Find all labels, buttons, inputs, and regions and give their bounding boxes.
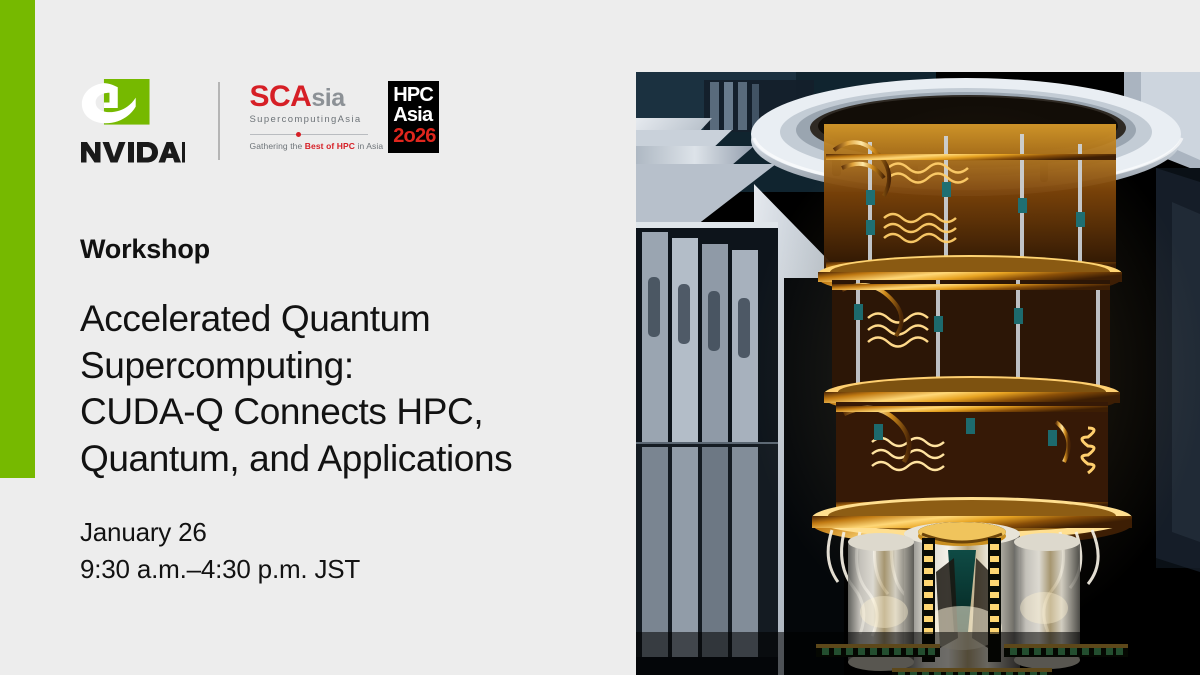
scasia-red-dot-icon xyxy=(296,132,301,137)
quantum-computer-illustration xyxy=(636,72,1200,675)
left-content-panel: SCAsia SupercomputingAsia Gathering the … xyxy=(0,0,636,675)
scasia-tagline-pre: Gathering the xyxy=(250,141,305,151)
scasia-wordmark-sca: SCA xyxy=(250,83,312,112)
logo-lockup: SCAsia SupercomputingAsia Gathering the … xyxy=(80,78,439,164)
hpc-asia-2026-badge: HPC Asia 2o26 xyxy=(388,81,439,153)
nvidia-eye-icon xyxy=(80,79,150,137)
hpc-badge-line2: Asia xyxy=(393,106,435,126)
nvidia-logo xyxy=(80,79,190,163)
scasia-text-block: SCAsia SupercomputingAsia Gathering the … xyxy=(250,81,384,151)
hpc-badge-line3-year: 2o26 xyxy=(393,126,435,146)
event-time: 9:30 a.m.–4:30 p.m. JST xyxy=(80,551,360,588)
headline-line-1: Accelerated Quantum xyxy=(80,296,625,343)
nvidia-wordmark xyxy=(80,141,185,163)
scasia-wordmark: SCAsia xyxy=(250,83,384,112)
left-green-accent-bar xyxy=(0,0,35,478)
hpc-badge-line1: HPC xyxy=(393,86,435,106)
page-title: Accelerated Quantum Supercomputing: CUDA… xyxy=(80,296,625,482)
headline-line-4: Quantum, and Applications xyxy=(80,436,625,483)
scasia-tagline: Gathering the Best of HPC in Asia xyxy=(250,141,384,151)
headline-line-3: CUDA-Q Connects HPC, xyxy=(80,389,625,436)
quantum-computer-photo xyxy=(636,72,1200,675)
eyebrow-label: Workshop xyxy=(80,234,210,265)
scasia-tagline-post: in Asia xyxy=(355,141,383,151)
scasia-logo: SCAsia SupercomputingAsia Gathering the … xyxy=(250,81,440,161)
event-date: January 26 xyxy=(80,514,360,551)
scasia-rule-with-dot xyxy=(250,131,368,138)
logo-divider xyxy=(218,82,220,160)
event-datetime: January 26 9:30 a.m.–4:30 p.m. JST xyxy=(80,514,360,588)
scasia-subtitle: SupercomputingAsia xyxy=(250,114,384,125)
scasia-wordmark-sia: sia xyxy=(311,87,344,111)
headline-line-2: Supercomputing: xyxy=(80,343,625,390)
scasia-tagline-bold: Best of HPC xyxy=(305,141,355,151)
